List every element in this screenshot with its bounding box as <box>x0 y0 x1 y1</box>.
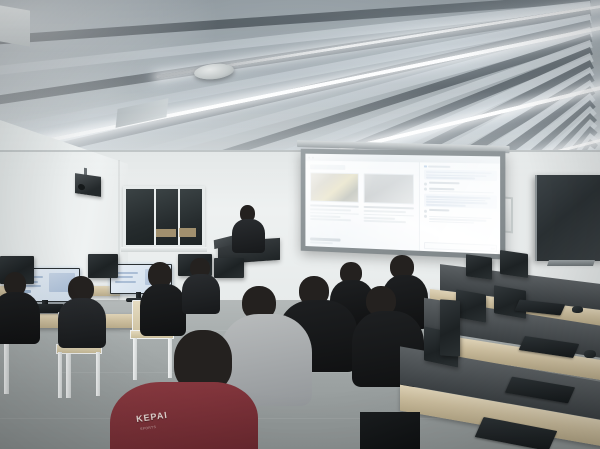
monitor-right-3 <box>456 289 486 322</box>
chat-icon <box>424 165 426 167</box>
assistant-avatar-icon <box>424 188 427 191</box>
ceiling-fixture-box <box>0 5 30 46</box>
media-card-left[interactable] <box>310 172 359 221</box>
foreground-desk-shadow <box>360 412 420 449</box>
user-item-1[interactable] <box>424 182 497 187</box>
assistant-bubble-2b <box>424 194 497 209</box>
media-card-row <box>310 172 414 223</box>
chat-sidebar-title <box>428 166 449 169</box>
footer-title <box>310 237 341 241</box>
monitor-back-4 <box>214 258 244 278</box>
user-avatar-icon <box>424 209 427 212</box>
monitor-back-2 <box>88 254 118 278</box>
media-text-line <box>310 215 340 218</box>
classroom-photo: KEPAI SPORTS <box>0 0 600 449</box>
projection-surface <box>305 154 500 255</box>
media-text-line <box>310 208 351 211</box>
chair-leg <box>58 352 62 398</box>
monitor-right-1 <box>466 254 492 280</box>
media-thumbnail <box>364 173 415 204</box>
chair-leg <box>96 352 100 396</box>
mouse-right-1 <box>572 306 583 313</box>
footer-subtitle <box>310 242 332 245</box>
assistant-avatar-icon <box>424 215 427 218</box>
assistant-bubble-1 <box>424 170 497 182</box>
chair-leg <box>133 338 137 380</box>
monitor-right-6 <box>440 299 460 356</box>
app-body <box>305 160 500 254</box>
window <box>123 186 205 248</box>
app-footer <box>310 237 414 248</box>
content-heading <box>310 164 345 170</box>
projected-application <box>305 154 500 255</box>
chat-input[interactable] <box>424 242 497 252</box>
media-text-line <box>310 218 351 221</box>
media-text-line <box>364 210 406 213</box>
wall-display-base <box>547 260 595 266</box>
monitor-right-2 <box>500 250 528 278</box>
user-avatar-icon <box>424 182 427 185</box>
media-text-line <box>364 220 406 223</box>
titlebar-dot <box>312 156 314 158</box>
send-button[interactable] <box>490 247 494 249</box>
projection-screen[interactable] <box>301 149 506 260</box>
chair-leg <box>168 338 172 378</box>
chat-sidebar-header <box>424 165 497 169</box>
app-chat-sidebar <box>419 162 500 254</box>
mouse-right-2 <box>584 350 596 358</box>
assistant-bubble-2 <box>424 187 497 193</box>
media-thumbnail <box>310 172 359 203</box>
window-sill <box>121 247 207 252</box>
media-card-right[interactable] <box>364 173 415 223</box>
titlebar-dot <box>308 156 310 158</box>
app-content-area <box>305 160 419 250</box>
wall-display <box>535 175 600 261</box>
assistant-bubble-3 <box>424 214 497 224</box>
wall-speaker <box>75 173 101 197</box>
media-caption <box>310 204 359 208</box>
media-caption <box>364 206 415 210</box>
media-text-line <box>364 217 395 220</box>
